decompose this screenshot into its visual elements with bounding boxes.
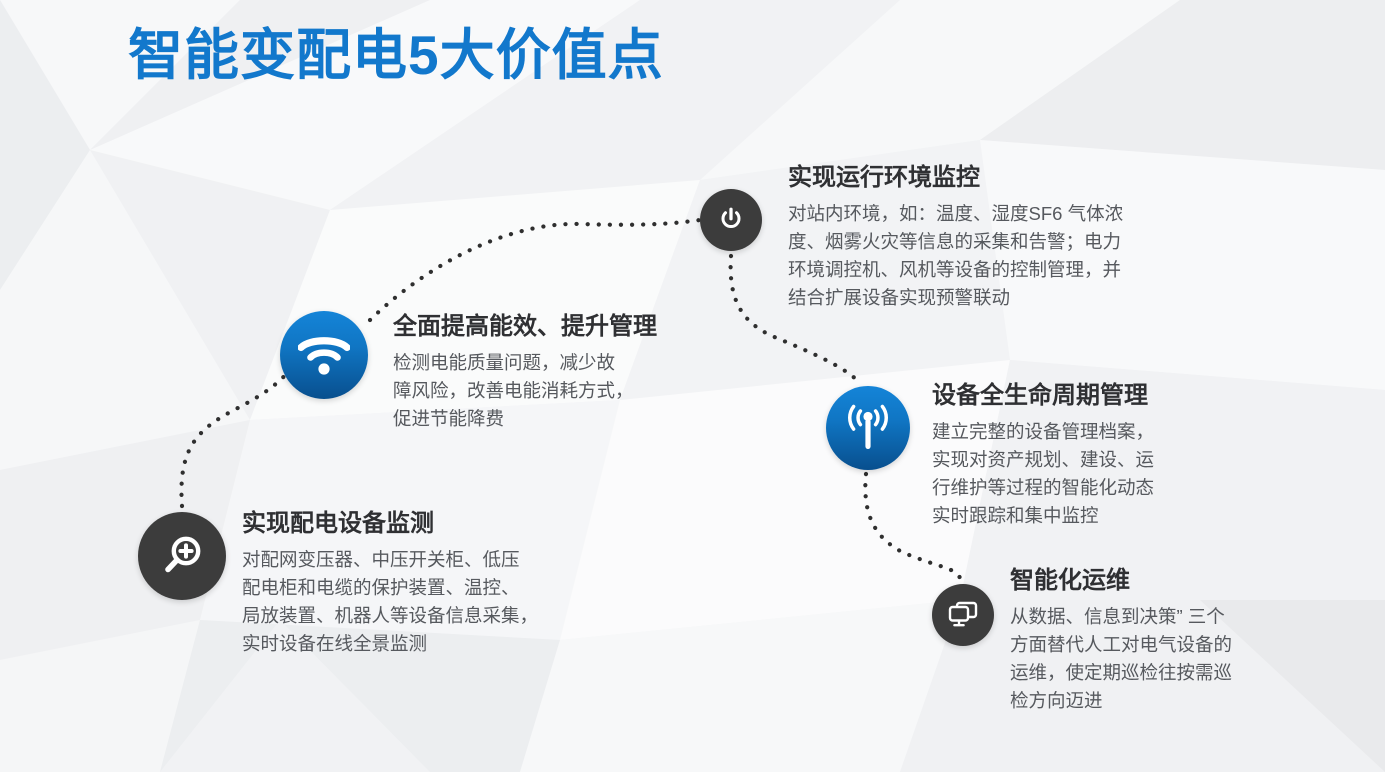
node-text-block: 智能化运维 从数据、信息到决策” 三个 方面替代人工对电气设备的 运维，使定期巡…: [1010, 566, 1310, 715]
node-text-block: 设备全生命周期管理 建立完整的设备管理档案， 实现对资产规划、建设、运 行维护等…: [932, 381, 1252, 530]
node-heading: 设备全生命周期管理: [932, 381, 1252, 411]
page-title: 智能变配电5大价值点: [128, 24, 664, 87]
antenna-icon: [844, 403, 892, 453]
wifi-icon-badge[interactable]: [280, 311, 368, 399]
magnifier-plus-icon: [159, 533, 205, 579]
node-text-block: 全面提高能效、提升管理 检测电能质量问题，减少故 障风险，改善电能消耗方式， 促…: [393, 312, 713, 433]
power-icon: [716, 205, 746, 235]
node-heading: 实现配电设备监测: [242, 509, 592, 539]
node-body: 从数据、信息到决策” 三个 方面替代人工对电气设备的 运维，使定期巡检往按需巡 …: [1010, 603, 1310, 715]
monitor-icon: [947, 600, 979, 630]
wifi-icon: [298, 334, 350, 376]
antenna-icon-badge[interactable]: [826, 386, 910, 470]
node-text-block: 实现运行环境监控 对站内环境，如：温度、湿度SF6 气体浓 度、烟雾火灾等信息的…: [788, 163, 1188, 312]
power-icon-badge[interactable]: [700, 189, 762, 251]
monitor-icon-badge[interactable]: [932, 584, 994, 646]
node-body: 建立完整的设备管理档案， 实现对资产规划、建设、运 行维护等过程的智能化动态 实…: [932, 418, 1252, 530]
magnifier-plus-icon-badge[interactable]: [138, 512, 226, 600]
node-text-block: 实现配电设备监测 对配网变压器、中压开关柜、低压 配电柜和电缆的保护装置、温控、…: [242, 509, 592, 658]
node-heading: 实现运行环境监控: [788, 163, 1188, 193]
node-body: 检测电能质量问题，减少故 障风险，改善电能消耗方式， 促进节能降费: [393, 349, 713, 433]
infographic-slide: 智能变配电5大价值点 实现运行环境监控 对站内环境，如：温度、湿度SF6 气体浓…: [0, 0, 1385, 772]
node-heading: 智能化运维: [1010, 566, 1310, 596]
node-body: 对站内环境，如：温度、湿度SF6 气体浓 度、烟雾火灾等信息的采集和告警；电力 …: [788, 200, 1188, 312]
node-heading: 全面提高能效、提升管理: [393, 312, 713, 342]
node-body: 对配网变压器、中压开关柜、低压 配电柜和电缆的保护装置、温控、 局放装置、机器人…: [242, 546, 592, 658]
